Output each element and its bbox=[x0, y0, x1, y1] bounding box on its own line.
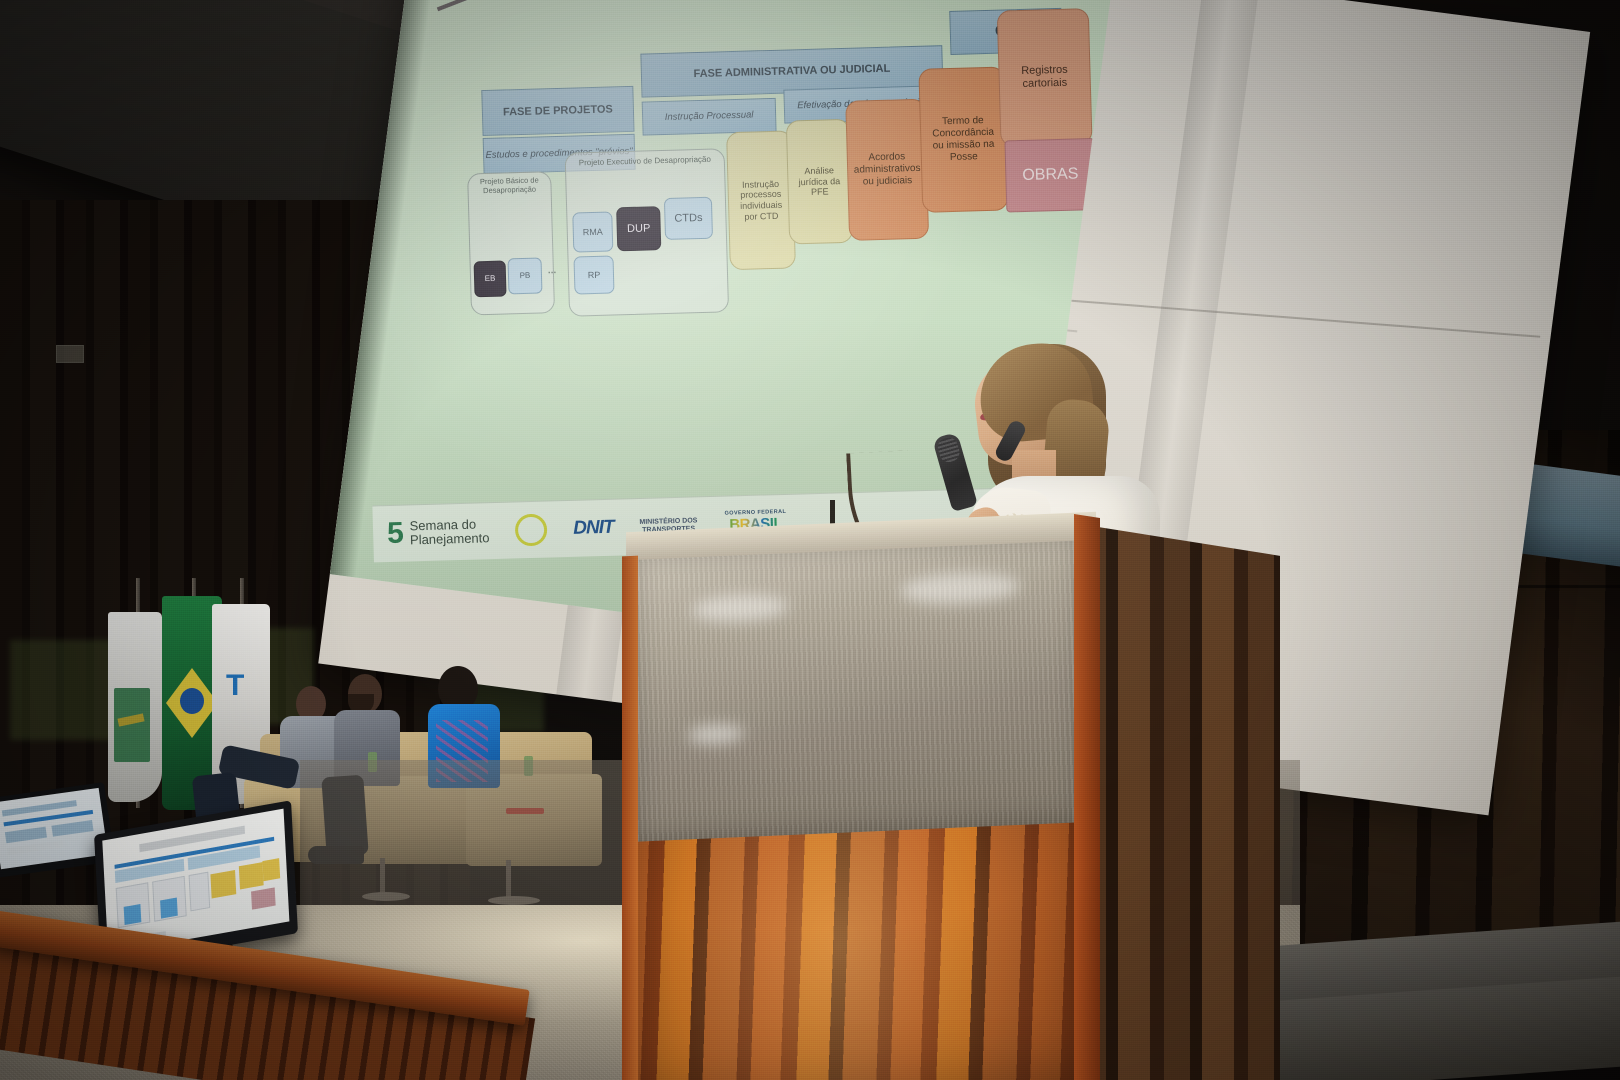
event-name: Semana do Planejamento bbox=[409, 517, 489, 547]
event-number: 5 bbox=[387, 521, 404, 547]
photo-scene: VISÃO GERAL DA DESAPROPRIAÇÃO FASE DE PR… bbox=[0, 0, 1620, 1080]
event-name-line2: Planejamento bbox=[410, 530, 490, 547]
exit-sign bbox=[56, 345, 84, 363]
podium-metal-panel bbox=[632, 532, 1084, 842]
podium-right-edge bbox=[1074, 514, 1100, 1080]
podium-metal-brushed-texture bbox=[632, 532, 1084, 842]
logo-dnit: DNIT bbox=[573, 517, 614, 540]
podium bbox=[628, 530, 1278, 1080]
flag-distrito-federal bbox=[108, 612, 162, 802]
logo-semana-planejamento: 5 Semana do Planejamento bbox=[387, 517, 490, 548]
podium-left-edge bbox=[622, 556, 638, 1080]
podium-side-panel bbox=[1080, 524, 1280, 1080]
logo-ring-icon bbox=[515, 514, 548, 547]
